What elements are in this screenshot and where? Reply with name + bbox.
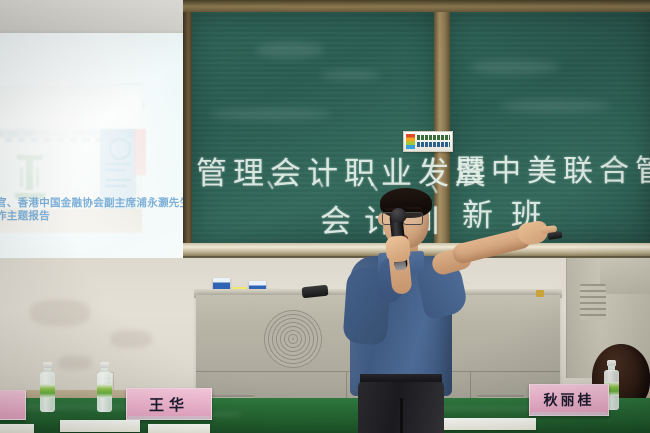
chalk-text-line1-right: 暨中美联合管 <box>455 146 650 190</box>
wall-scuff <box>110 330 152 348</box>
cabinet-vent <box>580 284 606 320</box>
chalk-smudge <box>255 42 325 58</box>
slide-caption-line2: 作主题报告 <box>0 208 186 223</box>
presenter-eyebrow-right <box>405 207 421 209</box>
podium-badge <box>536 290 544 297</box>
side-cabinet-upper <box>600 258 650 294</box>
slide-logo-icon <box>8 141 52 203</box>
podium-speaker-grille-icon <box>264 310 322 368</box>
chalk-smudge <box>500 100 610 112</box>
sticker-text-line1 <box>417 135 450 140</box>
slide-red-accent <box>134 129 146 175</box>
upper-left-wall <box>0 0 188 34</box>
microphone-head-icon <box>390 207 406 222</box>
wall-scuff <box>58 356 92 370</box>
chalk-smudge <box>470 60 560 74</box>
paper-document <box>440 418 536 430</box>
paper-document <box>148 424 210 433</box>
paper-document <box>60 420 140 432</box>
chalkboard-sticker <box>403 131 453 152</box>
cloth-fold <box>20 404 130 410</box>
sticker-color-bars <box>406 134 415 149</box>
sticker-text-line2 <box>417 142 450 147</box>
wall-scuff <box>30 300 90 326</box>
chalkboard-left-edge <box>183 6 192 256</box>
chalk-text-line1-left: 管理会计职业发展 <box>196 148 492 193</box>
chalkboard-top-frame <box>183 0 650 12</box>
presenter-trouser-seam <box>400 398 403 433</box>
chalk-smudge <box>210 108 330 120</box>
presenter-belt <box>360 374 442 382</box>
name-card-stand <box>531 412 607 416</box>
name-card-stand <box>128 416 210 420</box>
chalk-smudge <box>320 70 380 80</box>
microphone-base-tip <box>395 261 407 270</box>
photo-scene: 官、香港中国金融协会副主席浦永灏先生 作主题报告 管理会计职业发展 暨中美联合管… <box>0 0 650 433</box>
paper-document <box>0 424 34 433</box>
projection-screen <box>0 33 188 258</box>
presenter-microphone-hand <box>385 235 411 263</box>
name-card <box>0 390 26 420</box>
